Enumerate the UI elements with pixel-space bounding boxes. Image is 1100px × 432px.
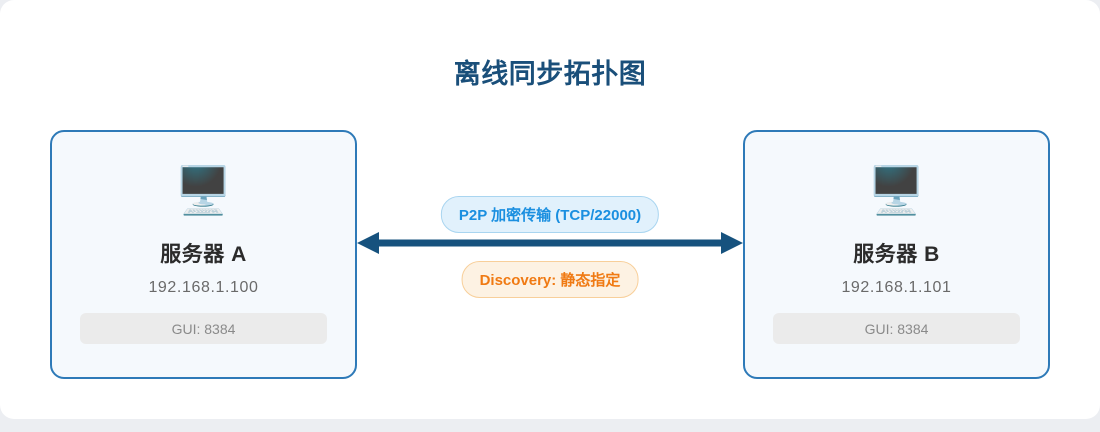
node-server-b[interactable]: 🖥️ 服务器 B 192.168.1.101 GUI: 8384 — [743, 130, 1050, 379]
discovery-badge: Discovery: 静态指定 — [462, 261, 639, 298]
desktop-computer-icon: 🖥️ — [175, 160, 232, 220]
desktop-computer-icon: 🖥️ — [868, 160, 925, 220]
diagram-canvas: 离线同步拓扑图 🖥️ 服务器 A 192.168.1.100 GUI: 8384… — [0, 0, 1100, 419]
node-port-badge-server-a: GUI: 8384 — [80, 313, 327, 344]
node-ip-server-a: 192.168.1.100 — [148, 279, 258, 297]
node-name-server-a: 服务器 A — [160, 238, 247, 268]
node-port-badge-server-b: GUI: 8384 — [773, 313, 1020, 344]
node-ip-server-b: 192.168.1.101 — [841, 279, 951, 297]
double-headed-arrow-icon — [357, 231, 743, 255]
topology-diagram: 🖥️ 服务器 A 192.168.1.100 GUI: 8384 P2P 加密传… — [0, 130, 1100, 380]
node-server-a[interactable]: 🖥️ 服务器 A 192.168.1.100 GUI: 8384 — [50, 130, 357, 379]
protocol-badge: P2P 加密传输 (TCP/22000) — [441, 196, 659, 233]
node-name-server-b: 服务器 B — [853, 238, 940, 268]
page-title: 离线同步拓扑图 — [0, 52, 1100, 91]
connection-link: P2P 加密传输 (TCP/22000) Discovery: 静态指定 — [357, 130, 743, 379]
